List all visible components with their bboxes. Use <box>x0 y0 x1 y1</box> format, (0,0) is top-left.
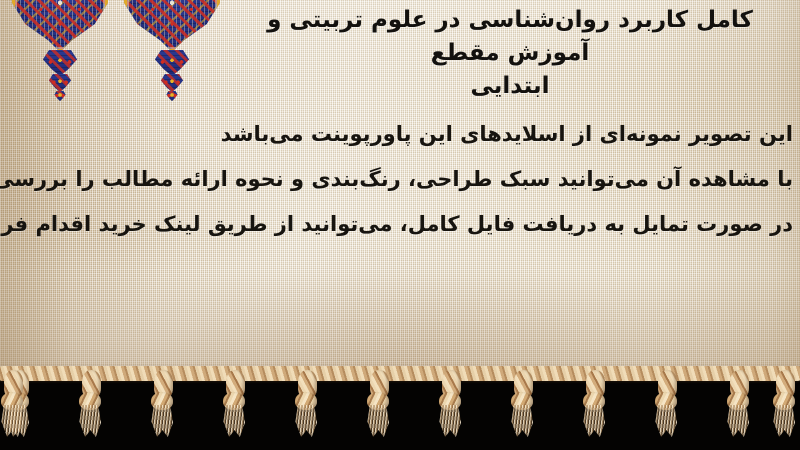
body-line-2: با مشاهده آن می‌توانید سبک طراحی، رنگ‌بن… <box>7 157 793 202</box>
slide-title-line-2: ابتدایی <box>240 70 780 103</box>
text-layer: کامل کاربرد روان‌شناسی در علوم تربیتی و … <box>0 0 800 450</box>
slide-body: این تصویر نمونه‌ای از اسلایدهای این پاور… <box>7 112 793 247</box>
body-line-3: در صورت تمایل به دریافت فایل کامل، می‌تو… <box>7 202 793 247</box>
body-line-1: این تصویر نمونه‌ای از اسلایدهای این پاور… <box>7 112 793 157</box>
slide-title-line-1: کامل کاربرد روان‌شناسی در علوم تربیتی و … <box>240 4 780 70</box>
presentation-slide: کامل کاربرد روان‌شناسی در علوم تربیتی و … <box>0 0 800 450</box>
slide-title: کامل کاربرد روان‌شناسی در علوم تربیتی و … <box>240 4 780 103</box>
